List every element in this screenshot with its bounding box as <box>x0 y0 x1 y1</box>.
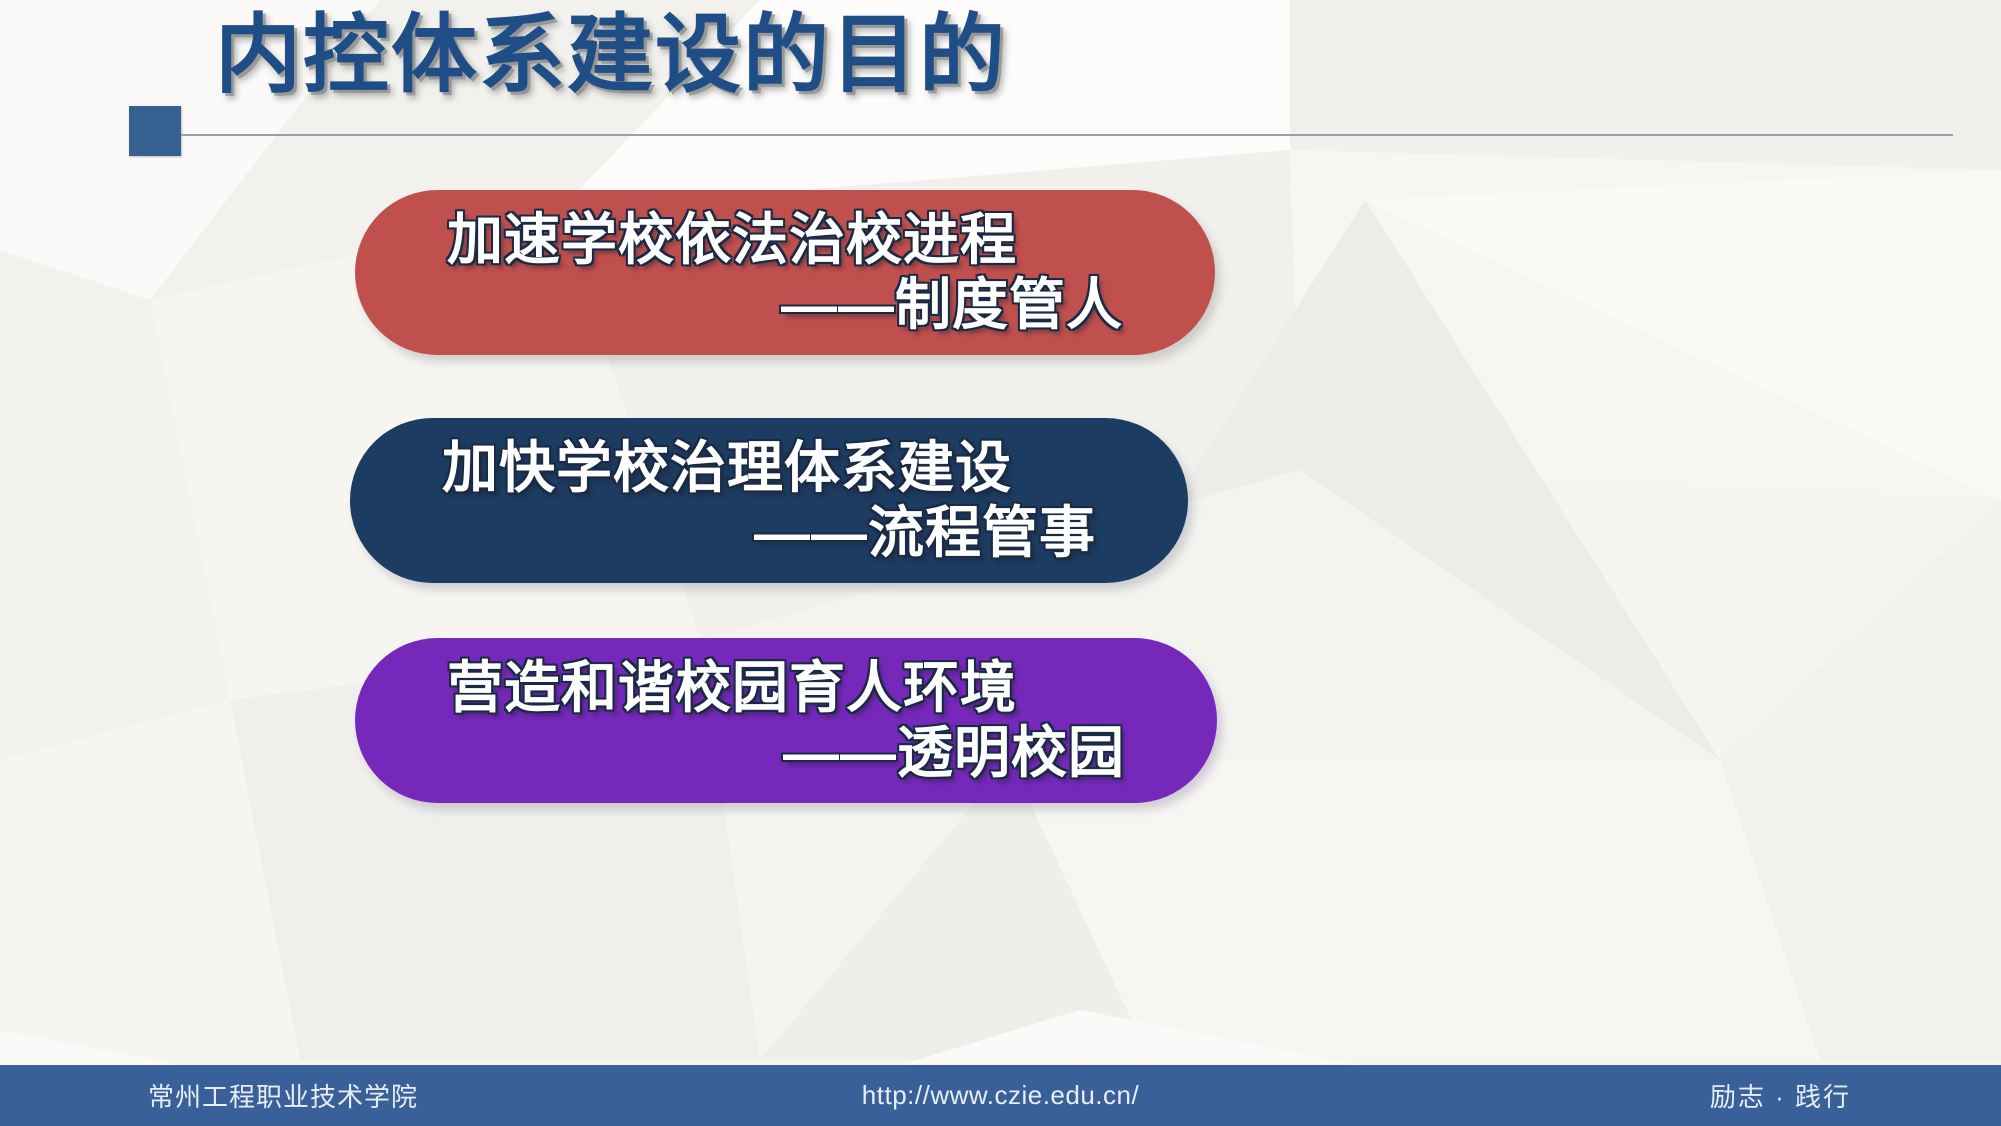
capsule-accelerate-rule-of-law: 加速学校依法治校进程 ——制度管人 <box>355 190 1215 355</box>
footer-motto: 励志 · 践行 <box>1710 1077 1851 1114</box>
footer-institution-name: 常州工程职业技术学院 <box>148 1077 418 1114</box>
title-accent-square <box>129 106 181 156</box>
capsule-governance-system: 加快学校治理体系建设 ——流程管事 <box>350 418 1188 583</box>
page-title: 内控体系建设的目的 <box>215 6 1007 105</box>
capsule-1-primary-text: 加速学校依法治校进程 <box>447 208 1123 273</box>
capsule-harmonious-campus: 营造和谐校园育人环境 ——透明校园 <box>355 638 1217 803</box>
footer-website-url[interactable]: http://www.czie.edu.cn/ <box>862 1080 1139 1111</box>
capsule-1-tagline-text: ——制度管人 <box>447 273 1123 338</box>
slide-canvas: 内控体系建设的目的 加速学校依法治校进程 ——制度管人 加快学校治理体系建设 —… <box>0 0 2001 1126</box>
capsule-3-tagline-text: ——透明校园 <box>447 721 1125 786</box>
capsule-3-primary-text: 营造和谐校园育人环境 <box>447 656 1125 721</box>
capsule-2-primary-text: 加快学校治理体系建设 <box>442 436 1096 501</box>
slide-footer-bar: 常州工程职业技术学院 http://www.czie.edu.cn/ 励志 · … <box>0 1065 2001 1126</box>
title-divider-rule <box>181 134 1953 136</box>
slide-title-block: 内控体系建设的目的 <box>0 0 2001 175</box>
capsule-2-tagline-text: ——流程管事 <box>442 501 1096 566</box>
